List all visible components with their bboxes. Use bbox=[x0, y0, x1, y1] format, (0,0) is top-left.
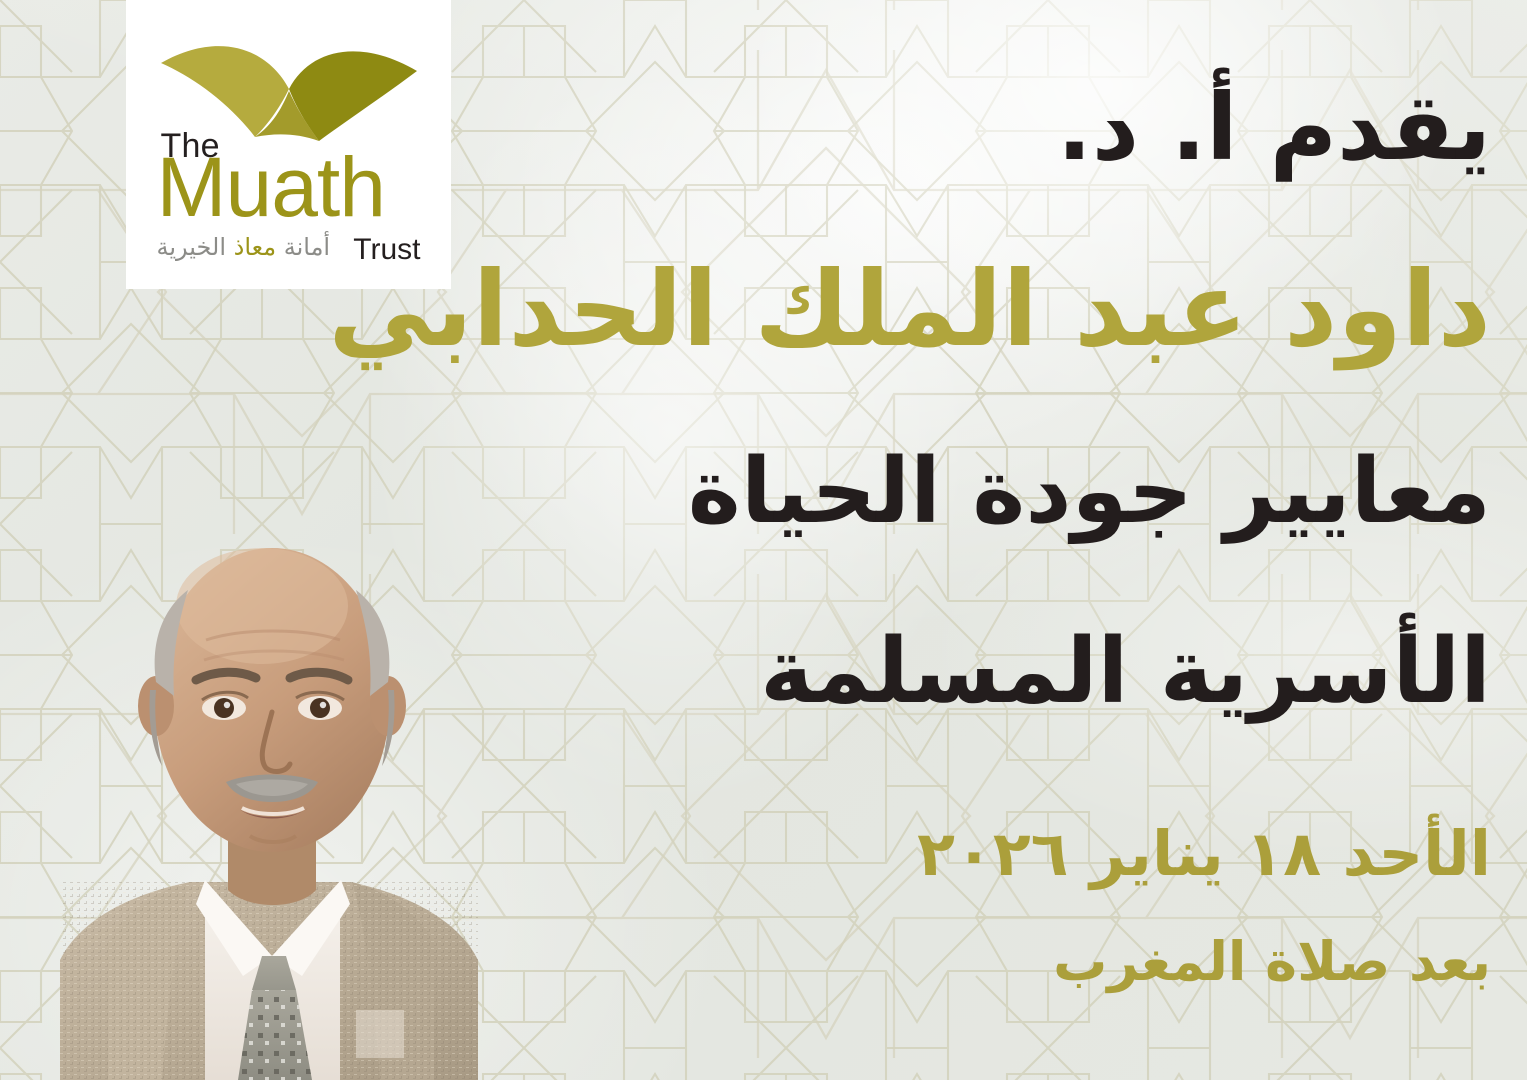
logo-arabic-prefix: أمانة bbox=[276, 233, 330, 261]
logo-muath-wordmark: Muath bbox=[157, 145, 385, 229]
event-time: بعد صلاة المغرب bbox=[1053, 930, 1491, 994]
event-poster: The Muath أمانة معاذ الخيرية Trust bbox=[0, 0, 1527, 1080]
event-date: الأحد ١٨ يناير ٢٠٢٦ bbox=[917, 818, 1491, 890]
presents-line: يقدم أ. د. bbox=[1057, 78, 1491, 178]
logo-arabic-subtitle: أمانة معاذ الخيرية bbox=[157, 233, 331, 261]
speaker-name: داود عبد الملك الحدابي bbox=[328, 250, 1491, 368]
logo-arabic-suffix: الخيرية bbox=[157, 233, 234, 261]
muath-trust-logo-card: The Muath أمانة معاذ الخيرية Trust bbox=[126, 0, 451, 289]
poster-text-block: يقدم أ. د. داود عبد الملك الحدابي معايير… bbox=[451, 0, 1491, 1080]
lecture-title-line-1: معايير جودة الحياة bbox=[688, 440, 1491, 544]
lecture-title-line-2: الأسرية المسلمة bbox=[760, 620, 1491, 724]
logo-arabic-gold-word: معاذ bbox=[234, 233, 276, 261]
